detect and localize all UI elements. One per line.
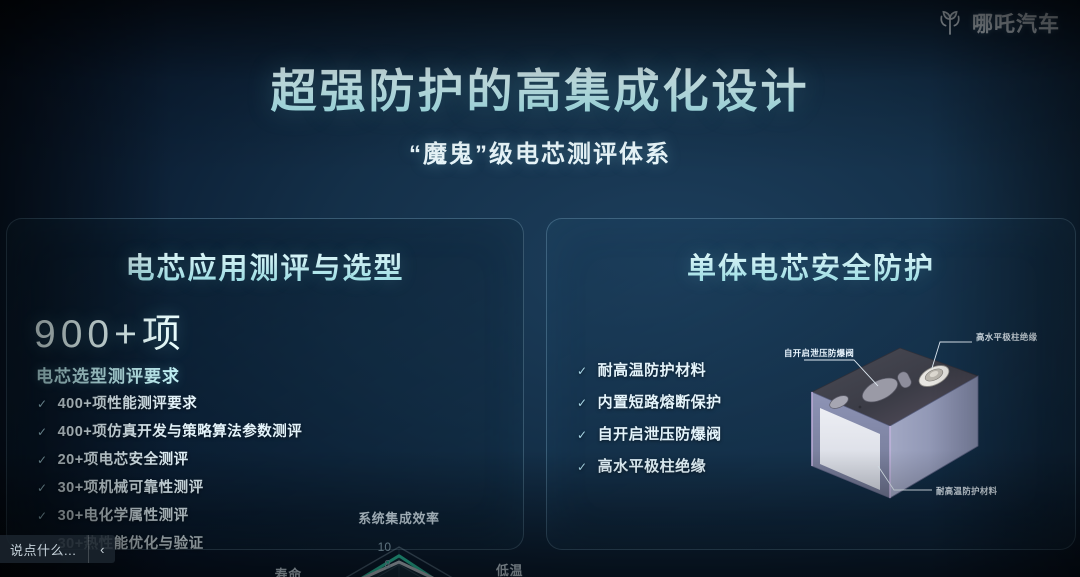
- list-item: ✓ 30+项机械可靠性测评: [37, 476, 337, 497]
- list-item-label: 自开启泄压防爆阀: [598, 423, 722, 444]
- stat-caption: 电芯选型测评要求: [36, 362, 180, 387]
- player-comment-bar[interactable]: 说点什么... ‹: [0, 535, 115, 563]
- stat-value: 900+: [34, 313, 142, 356]
- stat-total-items: 900+项: [34, 315, 181, 354]
- radar-chart-svg: 1086420 系统集成效率低温性能快充性能安全性能能量密度寿命: [279, 511, 519, 577]
- list-item: ✓ 内置短路熔断保护: [577, 391, 807, 412]
- list-item-label: 30+项机械可靠性测评: [58, 476, 204, 497]
- radar-axis-label: 系统集成效率: [358, 511, 440, 526]
- panel-left-title: 电芯应用测评与选型: [7, 245, 523, 287]
- list-item-label: 400+项性能测评要求: [58, 392, 198, 413]
- battery-cell-diagram: 自开启泄压防爆阀 高水平极柱绝缘 耐高温防护材料: [782, 314, 1072, 534]
- check-icon: ✓: [577, 460, 588, 474]
- check-icon: ✓: [37, 481, 48, 495]
- list-item: ✓ 20+项电芯安全测评: [37, 448, 337, 469]
- radar-axis-label: 寿命: [275, 567, 302, 577]
- panel-right-title: 单体电芯安全防护: [547, 245, 1075, 287]
- check-icon: ✓: [577, 396, 588, 410]
- list-item: ✓ 自开启泄压防爆阀: [577, 423, 807, 444]
- list-item-label: 20+项电芯安全测评: [58, 448, 189, 469]
- battery-cell-svg: 自开启泄压防爆阀 高水平极柱绝缘 耐高温防护材料: [782, 314, 1072, 534]
- callout-label-material: 耐高温防护材料: [936, 486, 998, 496]
- comment-input[interactable]: 说点什么...: [0, 535, 88, 563]
- list-item-label: 30+电化学属性测评: [58, 504, 189, 525]
- radar-chart: 1086420 系统集成效率低温性能快充性能安全性能能量密度寿命: [279, 511, 519, 577]
- list-item-label: 高水平极柱绝缘: [598, 455, 707, 476]
- stat-unit: 项: [142, 313, 181, 356]
- neta-trident-logo-icon: [936, 10, 964, 36]
- chevron-left-icon[interactable]: ‹: [88, 535, 115, 563]
- list-item: ✓ 高水平极柱绝缘: [577, 455, 807, 476]
- radar-axis-label: 低温性能: [495, 563, 523, 577]
- check-icon: ✓: [37, 453, 48, 467]
- slide-title: 超强防护的高集成化设计: [0, 66, 1080, 117]
- slide-canvas: 哪吒汽车 超强防护的高集成化设计 “魔鬼”级电芯测评体系 电芯应用测评与选型 9…: [0, 0, 1080, 577]
- check-icon: ✓: [37, 425, 48, 439]
- list-item: ✓ 400+项性能测评要求: [37, 392, 337, 413]
- panel-cell-evaluation: 电芯应用测评与选型 900+项 电芯选型测评要求 ✓ 400+项性能测评要求 ✓…: [6, 218, 524, 550]
- radar-series-group: [328, 556, 469, 577]
- slide-subtitle: “魔鬼”级电芯测评体系: [0, 134, 1080, 169]
- brand-logo: 哪吒汽车: [936, 8, 1060, 38]
- callout-label-insulation: 高水平极柱绝缘: [976, 332, 1038, 342]
- right-bullet-list: ✓ 耐高温防护材料 ✓ 内置短路熔断保护 ✓ 自开启泄压防爆阀 ✓ 高水平极柱绝…: [577, 359, 807, 487]
- cell-body: [812, 348, 978, 498]
- list-item: ✓ 耐高温防护材料: [577, 359, 807, 380]
- svg-text:10: 10: [378, 540, 392, 554]
- check-icon: ✓: [37, 509, 48, 523]
- check-icon: ✓: [37, 397, 48, 411]
- list-item-label: 耐高温防护材料: [598, 359, 707, 380]
- list-item-label: 内置短路熔断保护: [598, 391, 722, 412]
- check-icon: ✓: [577, 364, 588, 378]
- list-item-label: 400+项仿真开发与策略算法参数测评: [58, 420, 303, 441]
- brand-name: 哪吒汽车: [972, 8, 1060, 38]
- callout-label-vent: 自开启泄压防爆阀: [784, 348, 854, 358]
- check-icon: ✓: [577, 428, 588, 442]
- svg-text:8: 8: [384, 558, 391, 572]
- panel-cell-safety: 单体电芯安全防护 ✓ 耐高温防护材料 ✓ 内置短路熔断保护 ✓ 自开启泄压防爆阀…: [546, 218, 1076, 550]
- list-item: ✓ 400+项仿真开发与策略算法参数测评: [37, 420, 337, 441]
